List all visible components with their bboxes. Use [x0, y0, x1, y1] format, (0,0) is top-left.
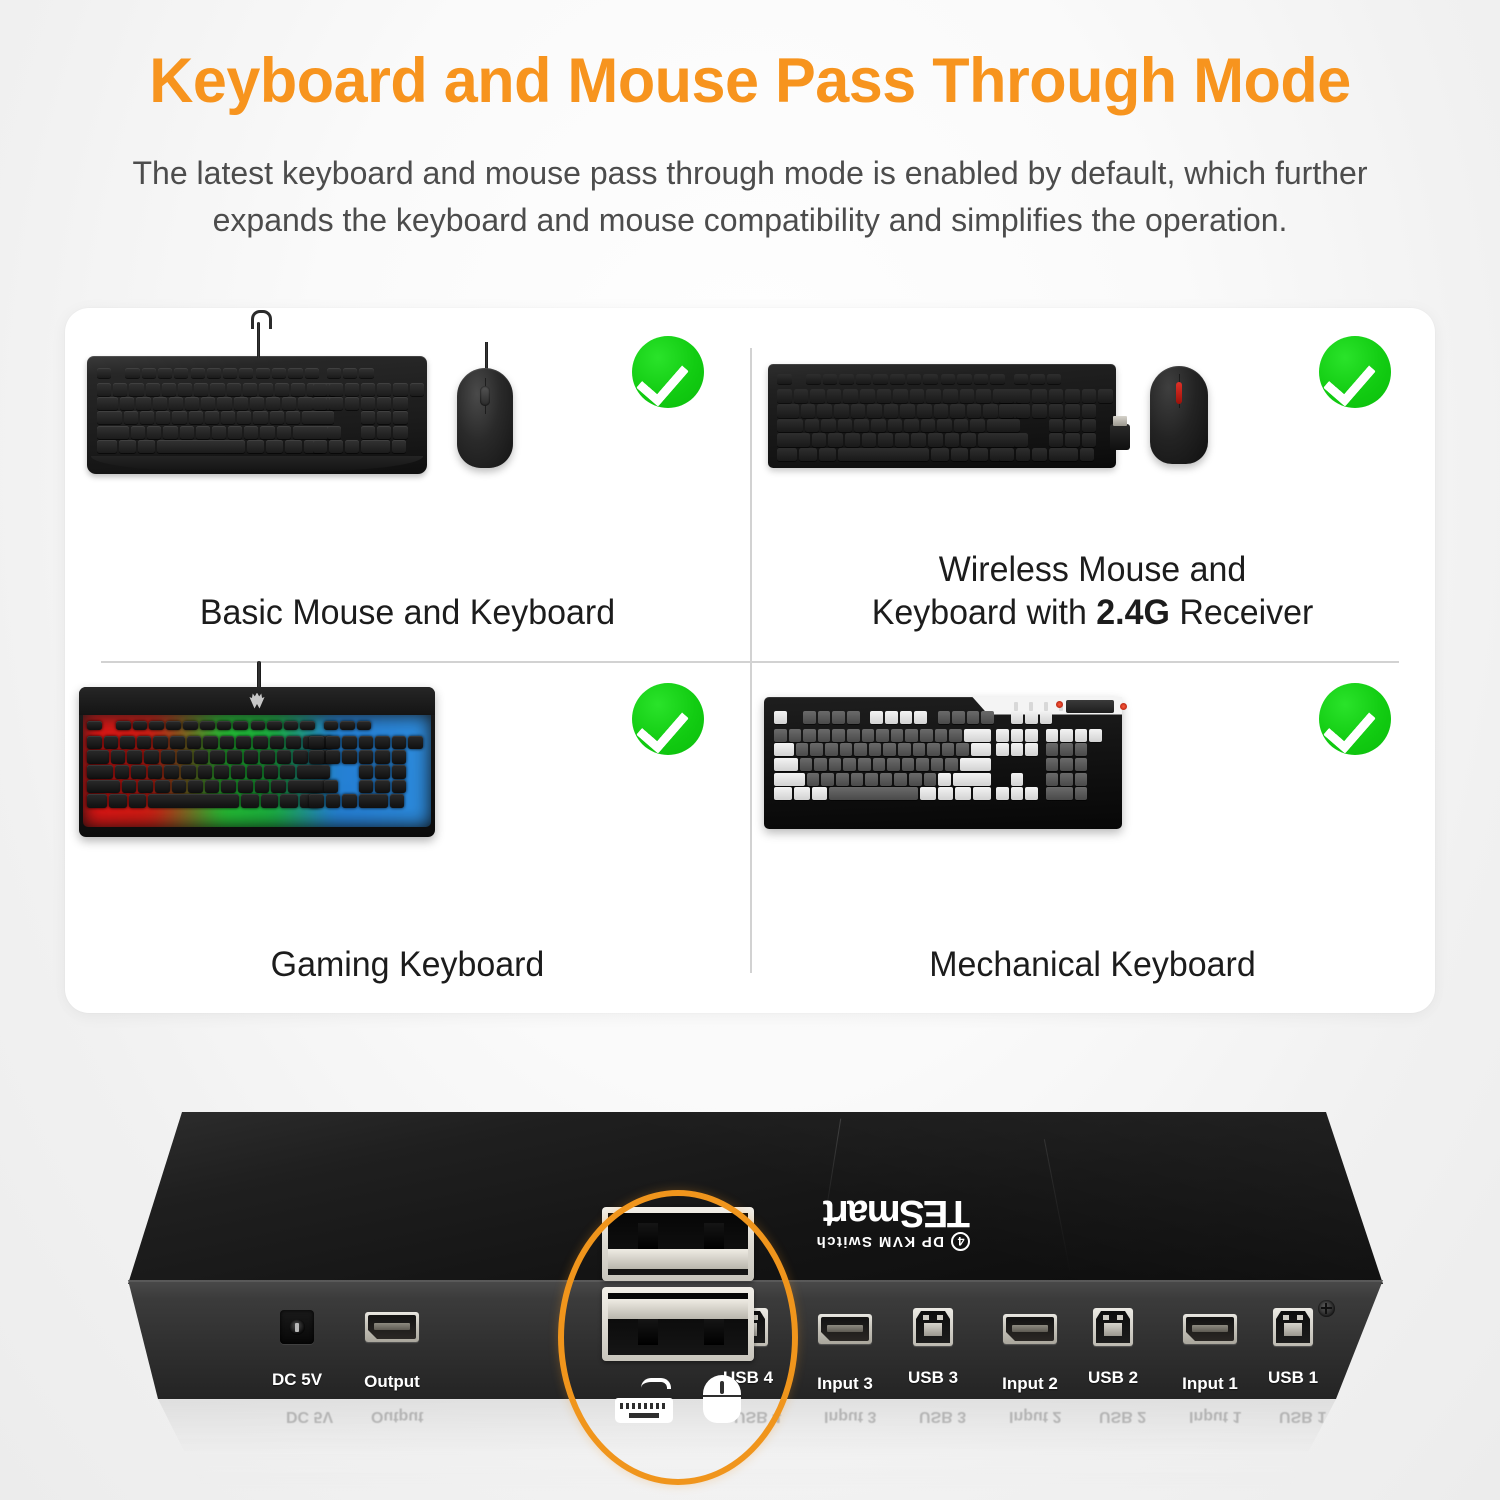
- port-label: DC 5V: [272, 1370, 322, 1390]
- kvm-device-section: 4 DP KVM Switch TESmart DC 5VOutputUSB 4…: [0, 1060, 1500, 1500]
- mechanical-keyboard-image: [764, 697, 1122, 829]
- usb-b-connector[interactable]: [1093, 1308, 1133, 1346]
- device-model-text: DP KVM Switch: [815, 1233, 944, 1250]
- port-input-3[interactable]: Input 3: [818, 1314, 872, 1344]
- port-label: Input 1: [1182, 1374, 1238, 1394]
- port-input-2[interactable]: Input 2: [1003, 1314, 1057, 1344]
- wireless-keyboard-image: [768, 364, 1116, 468]
- port-label: Input 2: [1002, 1374, 1058, 1394]
- wireless-mouse-image: [1150, 366, 1208, 464]
- rgb-gaming-keyboard-image: [79, 687, 435, 837]
- usb-b-connector[interactable]: [913, 1308, 953, 1346]
- port-label: USB 1: [1268, 1368, 1318, 1388]
- compat-caption: Wireless Mouse and Keyboard with 2.4G Re…: [760, 549, 1424, 634]
- mouse-cable: [485, 342, 488, 370]
- dc-power-jack[interactable]: [280, 1310, 314, 1344]
- port-label-reflection: USB 2: [1099, 1407, 1146, 1425]
- compat-caption-line2-post: Receiver: [1170, 593, 1313, 632]
- keyboard-icon: [615, 1387, 673, 1423]
- chassis-screw: [1318, 1300, 1335, 1317]
- page-title: Keyboard and Mouse Pass Through Mode: [23, 48, 1478, 114]
- port-input-1[interactable]: Input 1: [1183, 1314, 1237, 1344]
- port-usb-3[interactable]: USB 3: [913, 1308, 953, 1346]
- compat-item-basic: Basic Mouse and Keyboard: [65, 308, 750, 661]
- compat-caption: Mechanical Keyboard: [760, 944, 1424, 987]
- check-icon: [632, 683, 704, 755]
- compat-item-gaming: Gaming Keyboard: [65, 661, 750, 1014]
- usb-b-connector[interactable]: [1273, 1308, 1313, 1346]
- highlighted-usb-ports: [576, 1207, 780, 1469]
- port-usb-2[interactable]: USB 2: [1093, 1308, 1133, 1346]
- compat-caption-line1: Wireless Mouse and: [939, 550, 1247, 589]
- compatibility-card: Basic Mouse and Keyboard Wireless Mouse …: [65, 308, 1435, 1013]
- check-icon: [1319, 336, 1391, 408]
- keyboard-cable: [257, 322, 260, 358]
- port-label-reflection: DC 5V: [286, 1407, 333, 1425]
- usb-receiver-dongle: [1110, 424, 1130, 450]
- check-icon: [1319, 683, 1391, 755]
- port-label-reflection: Output: [371, 1407, 423, 1425]
- port-label-reflection: Input 1: [1189, 1407, 1241, 1425]
- check-icon: [632, 336, 704, 408]
- port-label: Output: [364, 1372, 420, 1392]
- port-label-reflection: USB 3: [919, 1407, 966, 1425]
- port-label: USB 3: [908, 1368, 958, 1388]
- displayport-connector[interactable]: [1183, 1314, 1237, 1344]
- mouse-icon: [703, 1375, 741, 1423]
- compat-caption: Basic Mouse and Keyboard: [75, 592, 739, 635]
- compat-item-mechanical: Mechanical Keyboard: [750, 661, 1435, 1014]
- port-label: Input 3: [817, 1374, 873, 1394]
- usb-port-lower[interactable]: [602, 1287, 754, 1361]
- wired-keyboard-image: [87, 356, 427, 474]
- usb-port-upper[interactable]: [602, 1207, 754, 1281]
- displayport-connector[interactable]: [818, 1314, 872, 1344]
- page-subtitle: The latest keyboard and mouse pass throu…: [80, 150, 1420, 244]
- kvm-switch-device: 4 DP KVM Switch TESmart DC 5VOutputUSB 4…: [128, 1112, 1383, 1399]
- port-output[interactable]: Output: [365, 1312, 419, 1342]
- port-label-reflection: Input 2: [1009, 1407, 1061, 1425]
- device-port-count: 4: [951, 1232, 970, 1251]
- displayport-connector[interactable]: [365, 1312, 419, 1342]
- port-usb-1[interactable]: USB 1: [1273, 1308, 1313, 1346]
- compat-caption-line2-pre: Keyboard with: [872, 593, 1097, 632]
- page-header: Keyboard and Mouse Pass Through Mode The…: [0, 0, 1500, 244]
- port-dc-5v[interactable]: DC 5V: [280, 1310, 314, 1344]
- displayport-connector[interactable]: [1003, 1314, 1057, 1344]
- compat-item-wireless: Wireless Mouse and Keyboard with 2.4G Re…: [750, 308, 1435, 661]
- port-label: USB 2: [1088, 1368, 1138, 1388]
- compat-caption: Gaming Keyboard: [75, 944, 739, 987]
- port-label-reflection: USB 1: [1279, 1407, 1326, 1425]
- keyboard-cable: [257, 661, 261, 689]
- mouse-scroll-wheel: [1176, 382, 1182, 404]
- compat-caption-emphasis: 2.4G: [1096, 593, 1170, 632]
- wired-mouse-image: [457, 368, 513, 468]
- port-label-reflection: Input 3: [824, 1407, 876, 1425]
